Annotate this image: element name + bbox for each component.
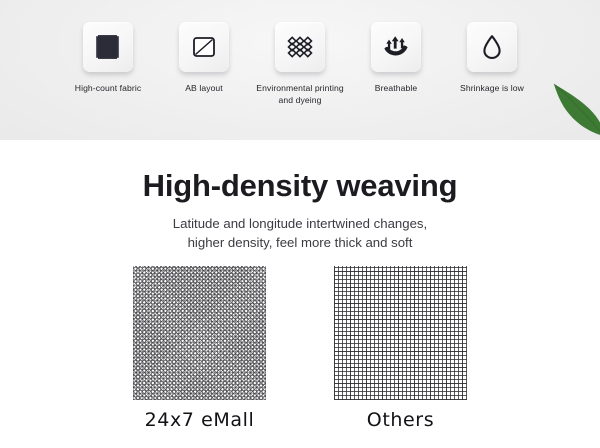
feature-item-breathable[interactable]: Breathable <box>348 22 444 95</box>
weave-comparison: 24x7 eMall Others <box>0 266 600 431</box>
feature-item-environmental-printing[interactable]: Environmental printing and dyeing <box>252 22 348 106</box>
airflow-arrows-icon <box>380 31 412 63</box>
feature-item-high-count-fabric[interactable]: High-count fabric <box>60 22 156 95</box>
feature-caption: AB layout <box>185 83 223 95</box>
dense-weave-swatch <box>133 266 266 400</box>
feature-item-shrinkage-is-low[interactable]: Shrinkage is low <box>444 22 540 95</box>
feature-band: High-count fabric AB layout <box>0 0 600 140</box>
feature-tile <box>371 22 421 72</box>
page-subtitle: Latitude and longitude intertwined chang… <box>0 214 600 252</box>
feature-tile <box>179 22 229 72</box>
feature-tile <box>83 22 133 72</box>
feature-caption: Environmental printing and dyeing <box>253 83 347 106</box>
subtitle-line-1: Latitude and longitude intertwined chang… <box>0 214 600 233</box>
main-section: High-density weaving Latitude and longit… <box>0 140 600 448</box>
feature-caption: Shrinkage is low <box>460 83 524 95</box>
swatch-label: Others <box>367 409 434 431</box>
comparison-item-ours: 24x7 eMall <box>133 266 266 431</box>
diagonal-split-square-icon <box>189 32 219 62</box>
feature-caption: High-count fabric <box>75 83 141 95</box>
swatch-label: 24x7 eMall <box>145 409 255 431</box>
feature-tile <box>275 22 325 72</box>
dense-fabric-square-icon <box>93 32 123 62</box>
feature-tile <box>467 22 517 72</box>
diamond-grid-icon <box>285 32 315 62</box>
subtitle-line-2: higher density, feel more thick and soft <box>0 233 600 252</box>
water-droplet-icon <box>477 32 507 62</box>
feature-caption: Breathable <box>375 83 417 95</box>
feature-item-ab-layout[interactable]: AB layout <box>156 22 252 95</box>
feature-list: High-count fabric AB layout <box>0 0 600 140</box>
page-title: High-density weaving <box>0 140 600 204</box>
comparison-item-others: Others <box>334 266 467 431</box>
loose-weave-swatch <box>334 266 467 400</box>
